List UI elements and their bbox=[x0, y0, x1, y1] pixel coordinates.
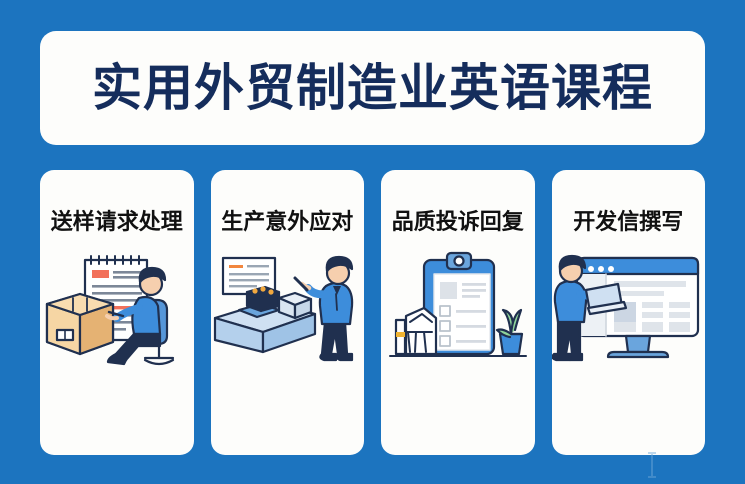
course-card-row: 送样请求处理 bbox=[40, 170, 705, 455]
course-card-sample-request[interactable]: 送样请求处理 bbox=[40, 170, 194, 455]
monitor-person-laptop-icon bbox=[552, 248, 706, 378]
package-chart-person-icon bbox=[40, 248, 194, 378]
course-card-quality-complaint[interactable]: 品质投诉回复 bbox=[381, 170, 535, 455]
card-title: 开发信撰写 bbox=[573, 212, 683, 234]
factory-bench-presenter-icon bbox=[211, 248, 365, 378]
course-card-development-letter[interactable]: 开发信撰写 bbox=[552, 170, 706, 455]
text-cursor-icon bbox=[648, 452, 656, 478]
header-banner: 实用外贸制造业英语课程 bbox=[40, 31, 705, 145]
card-title: 生产意外应对 bbox=[221, 212, 353, 234]
poster-canvas: 实用外贸制造业英语课程 送样请求处理 bbox=[0, 0, 745, 484]
clipboard-checklist-plant-icon bbox=[381, 248, 535, 378]
page-title: 实用外贸制造业英语课程 bbox=[92, 63, 653, 113]
card-title: 送样请求处理 bbox=[51, 212, 183, 234]
card-title: 品质投诉回复 bbox=[392, 212, 524, 234]
course-card-production-incident[interactable]: 生产意外应对 bbox=[211, 170, 365, 455]
